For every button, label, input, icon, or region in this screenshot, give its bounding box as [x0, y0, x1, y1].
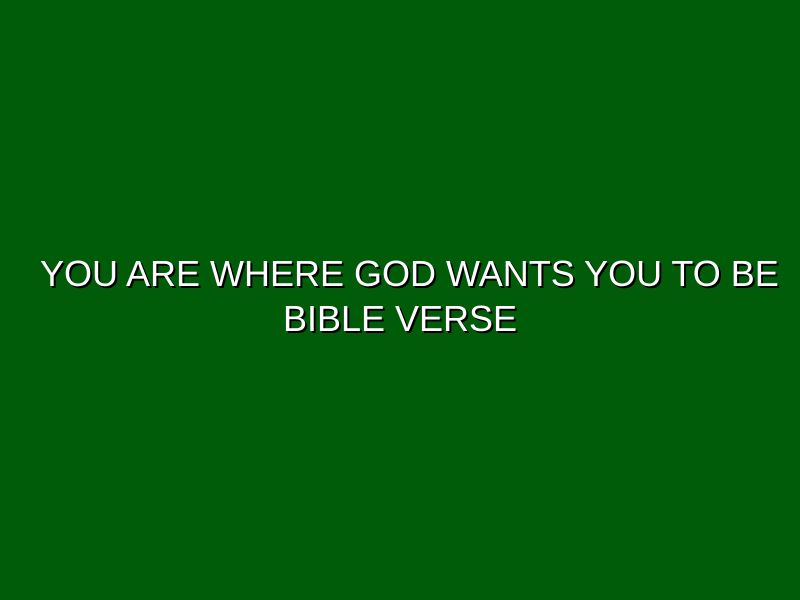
- page-title-line-2: BIBLE VERSE: [40, 296, 760, 341]
- page-title-line-1: YOU ARE WHERE GOD WANTS YOU TO BE: [40, 251, 760, 296]
- banner-canvas: YOU ARE WHERE GOD WANTS YOU TO BE BIBLE …: [0, 0, 800, 600]
- page-title: YOU ARE WHERE GOD WANTS YOU TO BE BIBLE …: [40, 251, 760, 341]
